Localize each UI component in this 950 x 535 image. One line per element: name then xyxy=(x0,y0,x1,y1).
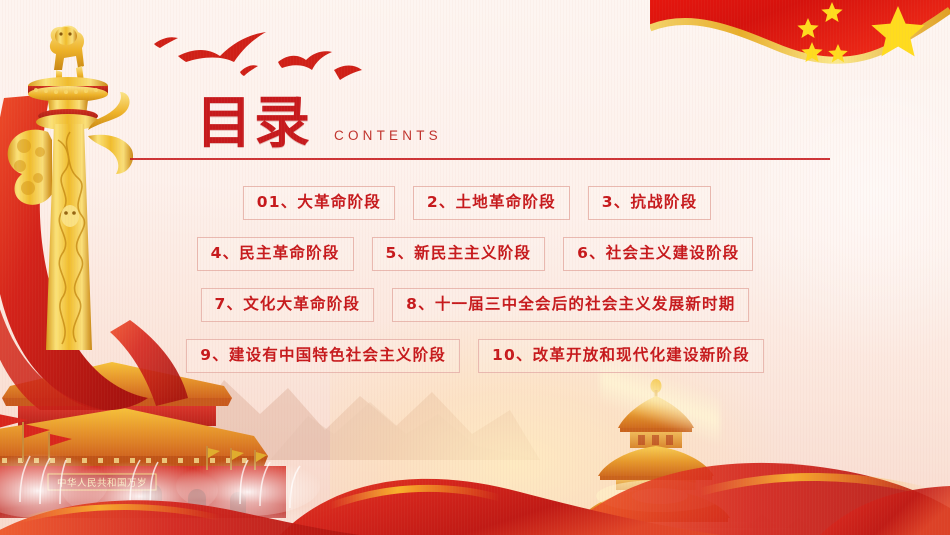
chinese-flag-banner xyxy=(650,0,950,120)
bird-icon xyxy=(334,66,362,81)
bird-icon xyxy=(278,51,332,70)
menu-item-6[interactable]: 6、社会主义建设阶段 xyxy=(563,237,753,271)
menu-row-3: 7、文化大革命阶段 8、十一届三中全会后的社会主义发展新时期 xyxy=(0,288,950,322)
flying-birds xyxy=(148,28,378,84)
bird-icon xyxy=(178,32,266,62)
menu-item-8[interactable]: 8、十一届三中全会后的社会主义发展新时期 xyxy=(392,288,749,322)
menu-item-2[interactable]: 2、土地革命阶段 xyxy=(413,186,570,220)
menu-item-10[interactable]: 10、改革开放和现代化建设新阶段 xyxy=(478,339,764,373)
slide-canvas: 中华人民共和国万岁 xyxy=(0,0,950,535)
bird-icon xyxy=(154,37,178,48)
page-title: 目录 CONTENTS xyxy=(196,96,442,152)
menu-row-4: 9、建设有中国特色社会主义阶段 10、改革开放和现代化建设新阶段 xyxy=(0,339,950,373)
menu-item-3[interactable]: 3、抗战阶段 xyxy=(588,186,712,220)
bird-icon xyxy=(240,65,258,76)
red-silk-waves xyxy=(0,400,950,535)
menu-item-5[interactable]: 5、新民主主义阶段 xyxy=(372,237,546,271)
menu-item-7[interactable]: 7、文化大革命阶段 xyxy=(201,288,375,322)
menu-item-9[interactable]: 9、建设有中国特色社会主义阶段 xyxy=(186,339,460,373)
menu-row-1: 01、大革命阶段 2、土地革命阶段 3、抗战阶段 xyxy=(0,186,950,220)
menu-row-2: 4、民主革命阶段 5、新民主主义阶段 6、社会主义建设阶段 xyxy=(0,237,950,271)
title-english: CONTENTS xyxy=(334,128,442,143)
menu-item-1[interactable]: 01、大革命阶段 xyxy=(243,186,395,220)
menu-item-4[interactable]: 4、民主革命阶段 xyxy=(197,237,354,271)
title-divider xyxy=(130,158,830,160)
lion-statue xyxy=(50,26,84,82)
contents-menu: 01、大革命阶段 2、土地革命阶段 3、抗战阶段 4、民主革命阶段 5、新民主主… xyxy=(0,186,950,390)
title-chinese: 目录 xyxy=(196,96,312,152)
